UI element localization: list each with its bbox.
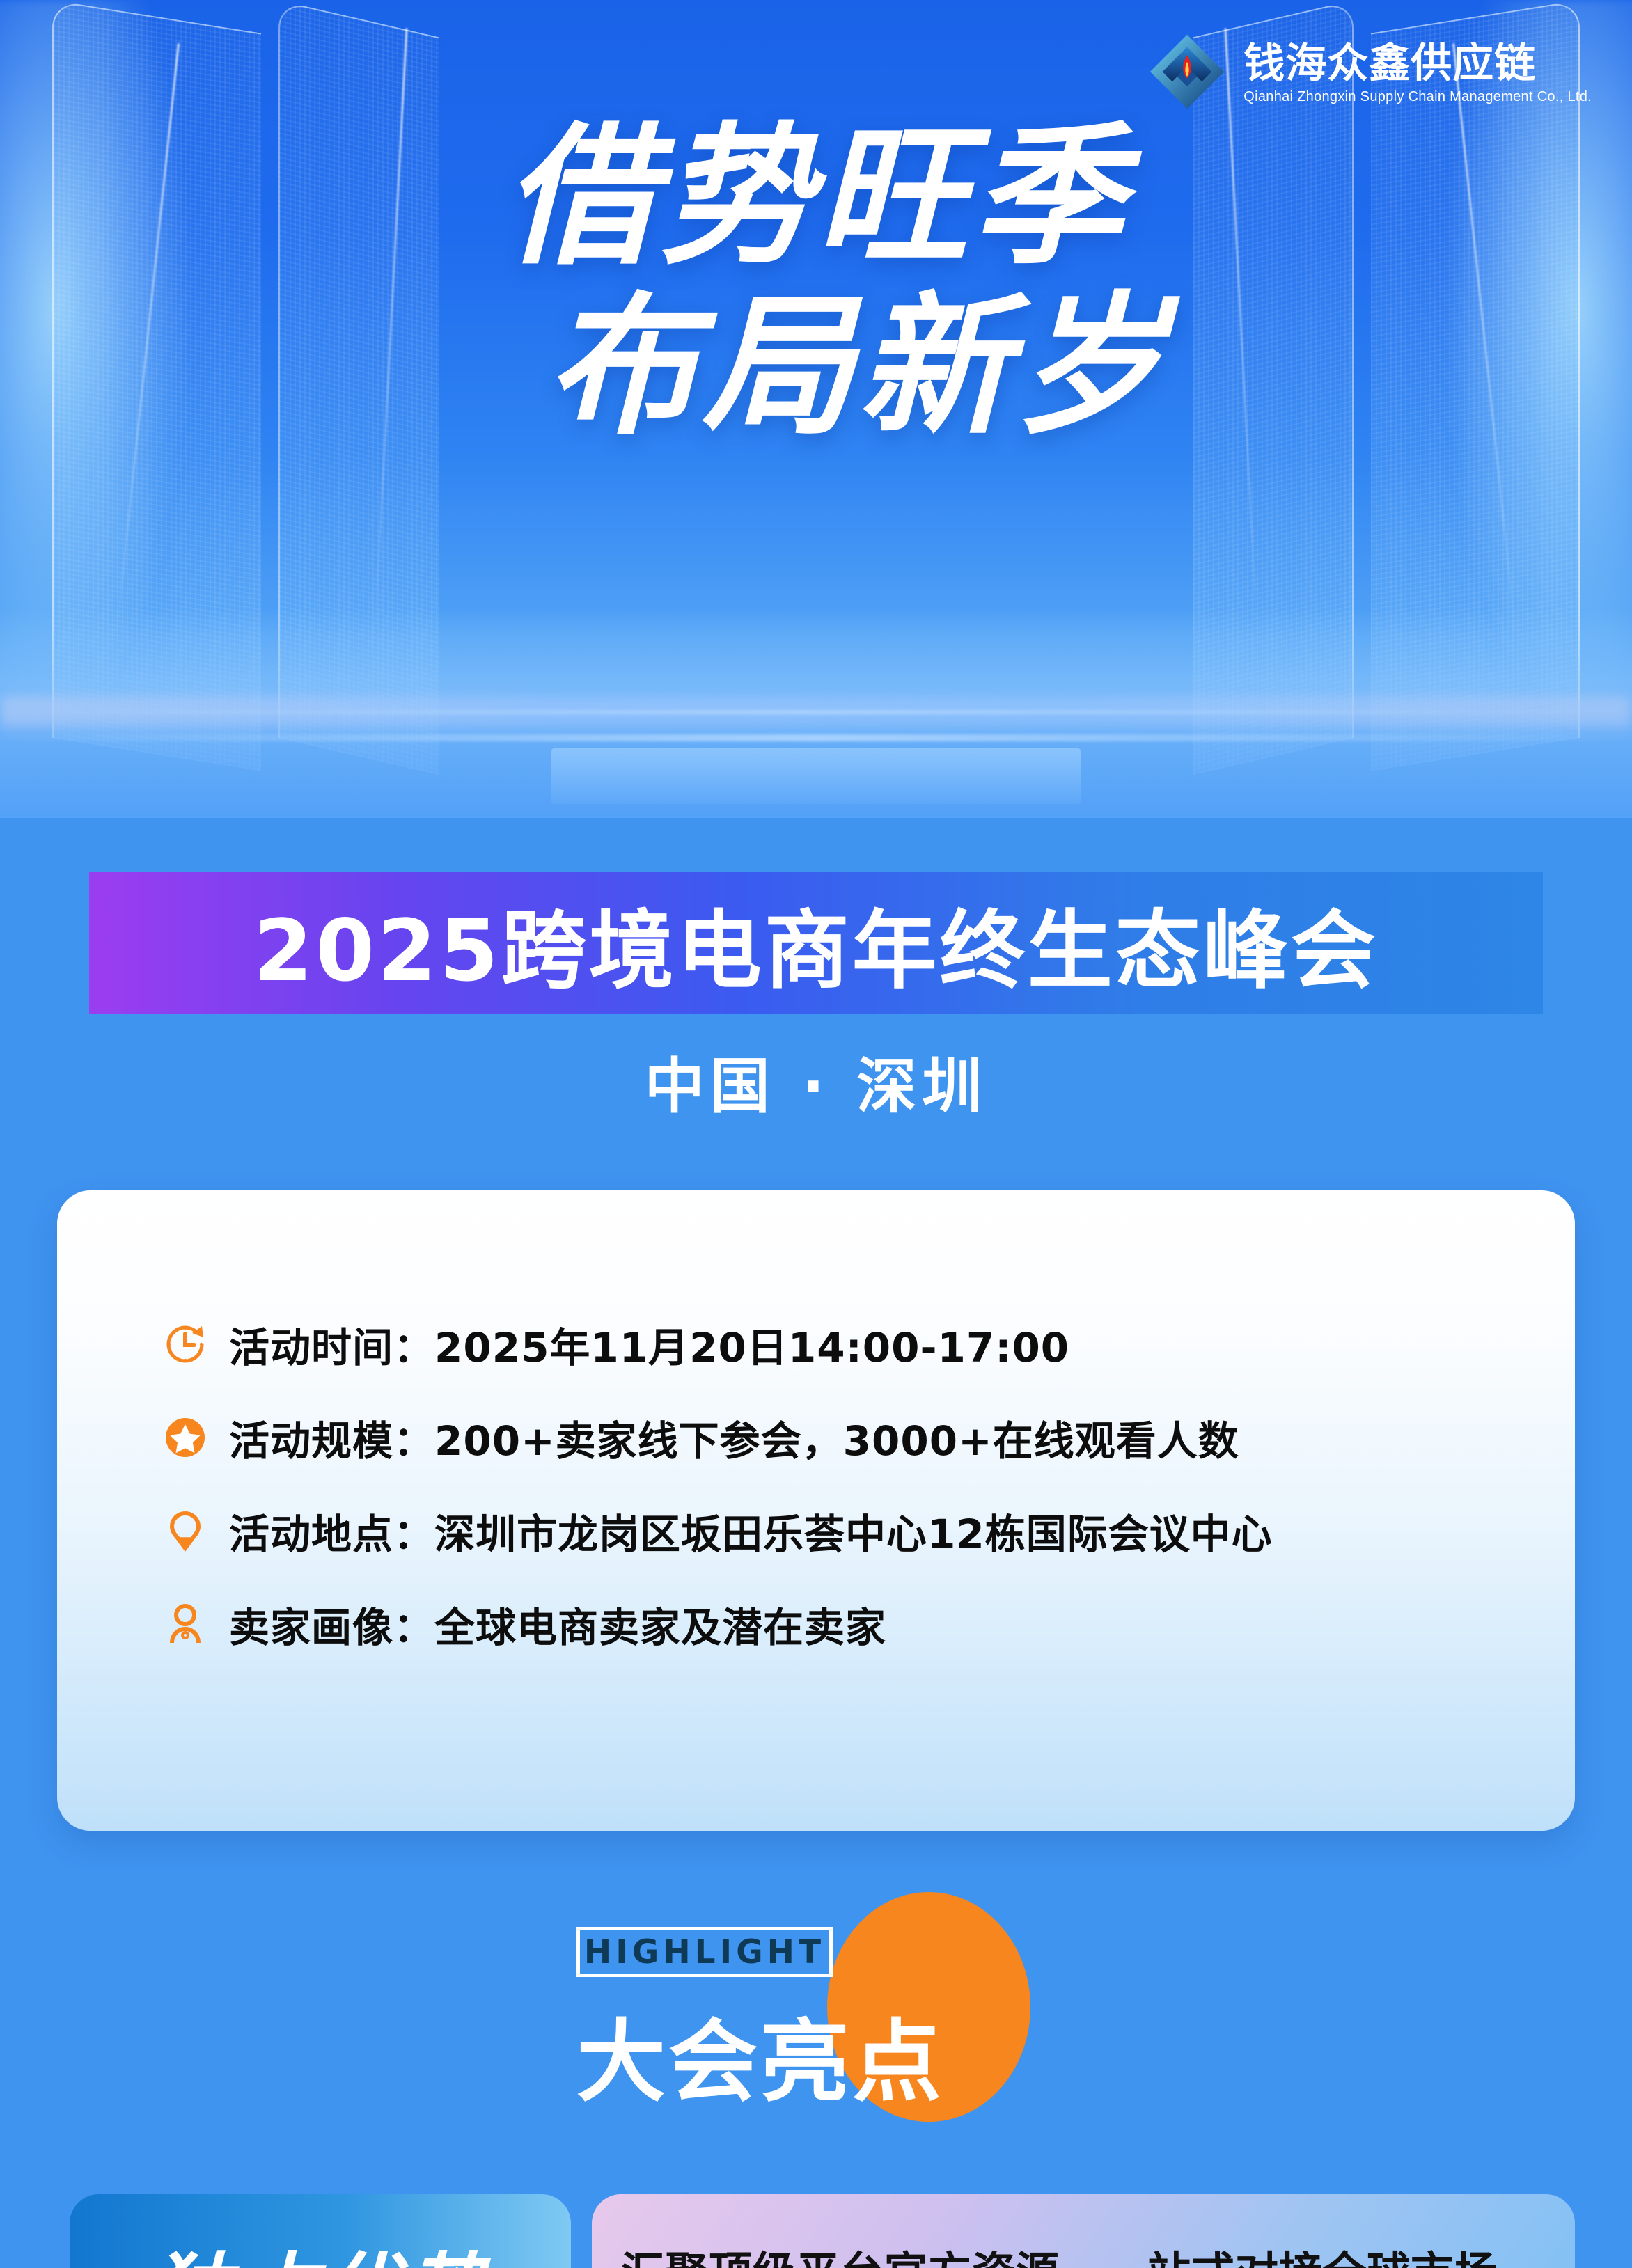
poster-root: 钱海众鑫供应链 Qianhai Zhongxin Supply Chain Ma…: [0, 0, 1632, 2268]
event-location: 中国 · 深圳: [0, 1037, 1632, 1124]
info-row-time: 活动时间：2025年11月20日14:00-17:00: [57, 1307, 1575, 1381]
highlight-eng-label: HIGHLIGHT: [584, 1933, 825, 1971]
info-text-audience: 卖家画像：全球电商卖家及潜在卖家: [229, 1595, 886, 1653]
bottom-advantage-badge: 独占优势: [70, 2194, 571, 2268]
person-icon: [158, 1602, 212, 1646]
brand-logo: 钱海众鑫供应链 Qianhai Zhongxin Supply Chain Ma…: [1146, 31, 1592, 116]
brand-name-cn: 钱海众鑫供应链: [1243, 42, 1536, 85]
event-title-bar: 2025跨境电商年终生态峰会: [89, 872, 1543, 1014]
info-text-scale: 活动规模：200+卖家线下参会，3000+在线观看人数: [229, 1408, 1239, 1467]
brand-logo-text: 钱海众鑫供应链 Qianhai Zhongxin Supply Chain Ma…: [1243, 42, 1592, 105]
highlight-eng-box: HIGHLIGHT: [576, 1927, 833, 1977]
bottom-badge-label: 独占优势: [150, 2225, 490, 2268]
hero-floor-block: [551, 748, 1081, 804]
clock-icon: [158, 1322, 212, 1367]
info-row-venue: 活动地点：深圳市龙岗区坂田乐荟中心12栋国际会议中心: [57, 1494, 1575, 1568]
bottom-card-text: 汇聚顶级平台官方资源，一站式对接全球市场: [621, 2237, 1498, 2268]
info-row-scale: 活动规模：200+卖家线下参会，3000+在线观看人数: [57, 1401, 1575, 1474]
diamond-flame-logo-icon: [1146, 31, 1228, 116]
info-text-time: 活动时间：2025年11月20日14:00-17:00: [229, 1315, 1069, 1373]
bottom-content-card: 汇聚顶级平台官方资源，一站式对接全球市场: [592, 2194, 1575, 2268]
hero-banner: [0, 0, 1632, 818]
star-icon: [158, 1415, 212, 1460]
event-info-card: 活动时间：2025年11月20日14:00-17:00 活动规模：200+卖家线…: [57, 1190, 1575, 1831]
hero-floor: [0, 609, 1632, 818]
info-text-venue: 活动地点：深圳市龙岗区坂田乐荟中心12栋国际会议中心: [229, 1502, 1273, 1560]
event-title: 2025跨境电商年终生态峰会: [253, 882, 1379, 1005]
brand-name-en: Qianhai Zhongxin Supply Chain Management…: [1243, 89, 1592, 105]
info-row-audience: 卖家画像：全球电商卖家及潜在卖家: [57, 1587, 1575, 1661]
highlight-cn-title: 大会亮点: [576, 1990, 944, 2118]
pin-icon: [158, 1509, 212, 1553]
